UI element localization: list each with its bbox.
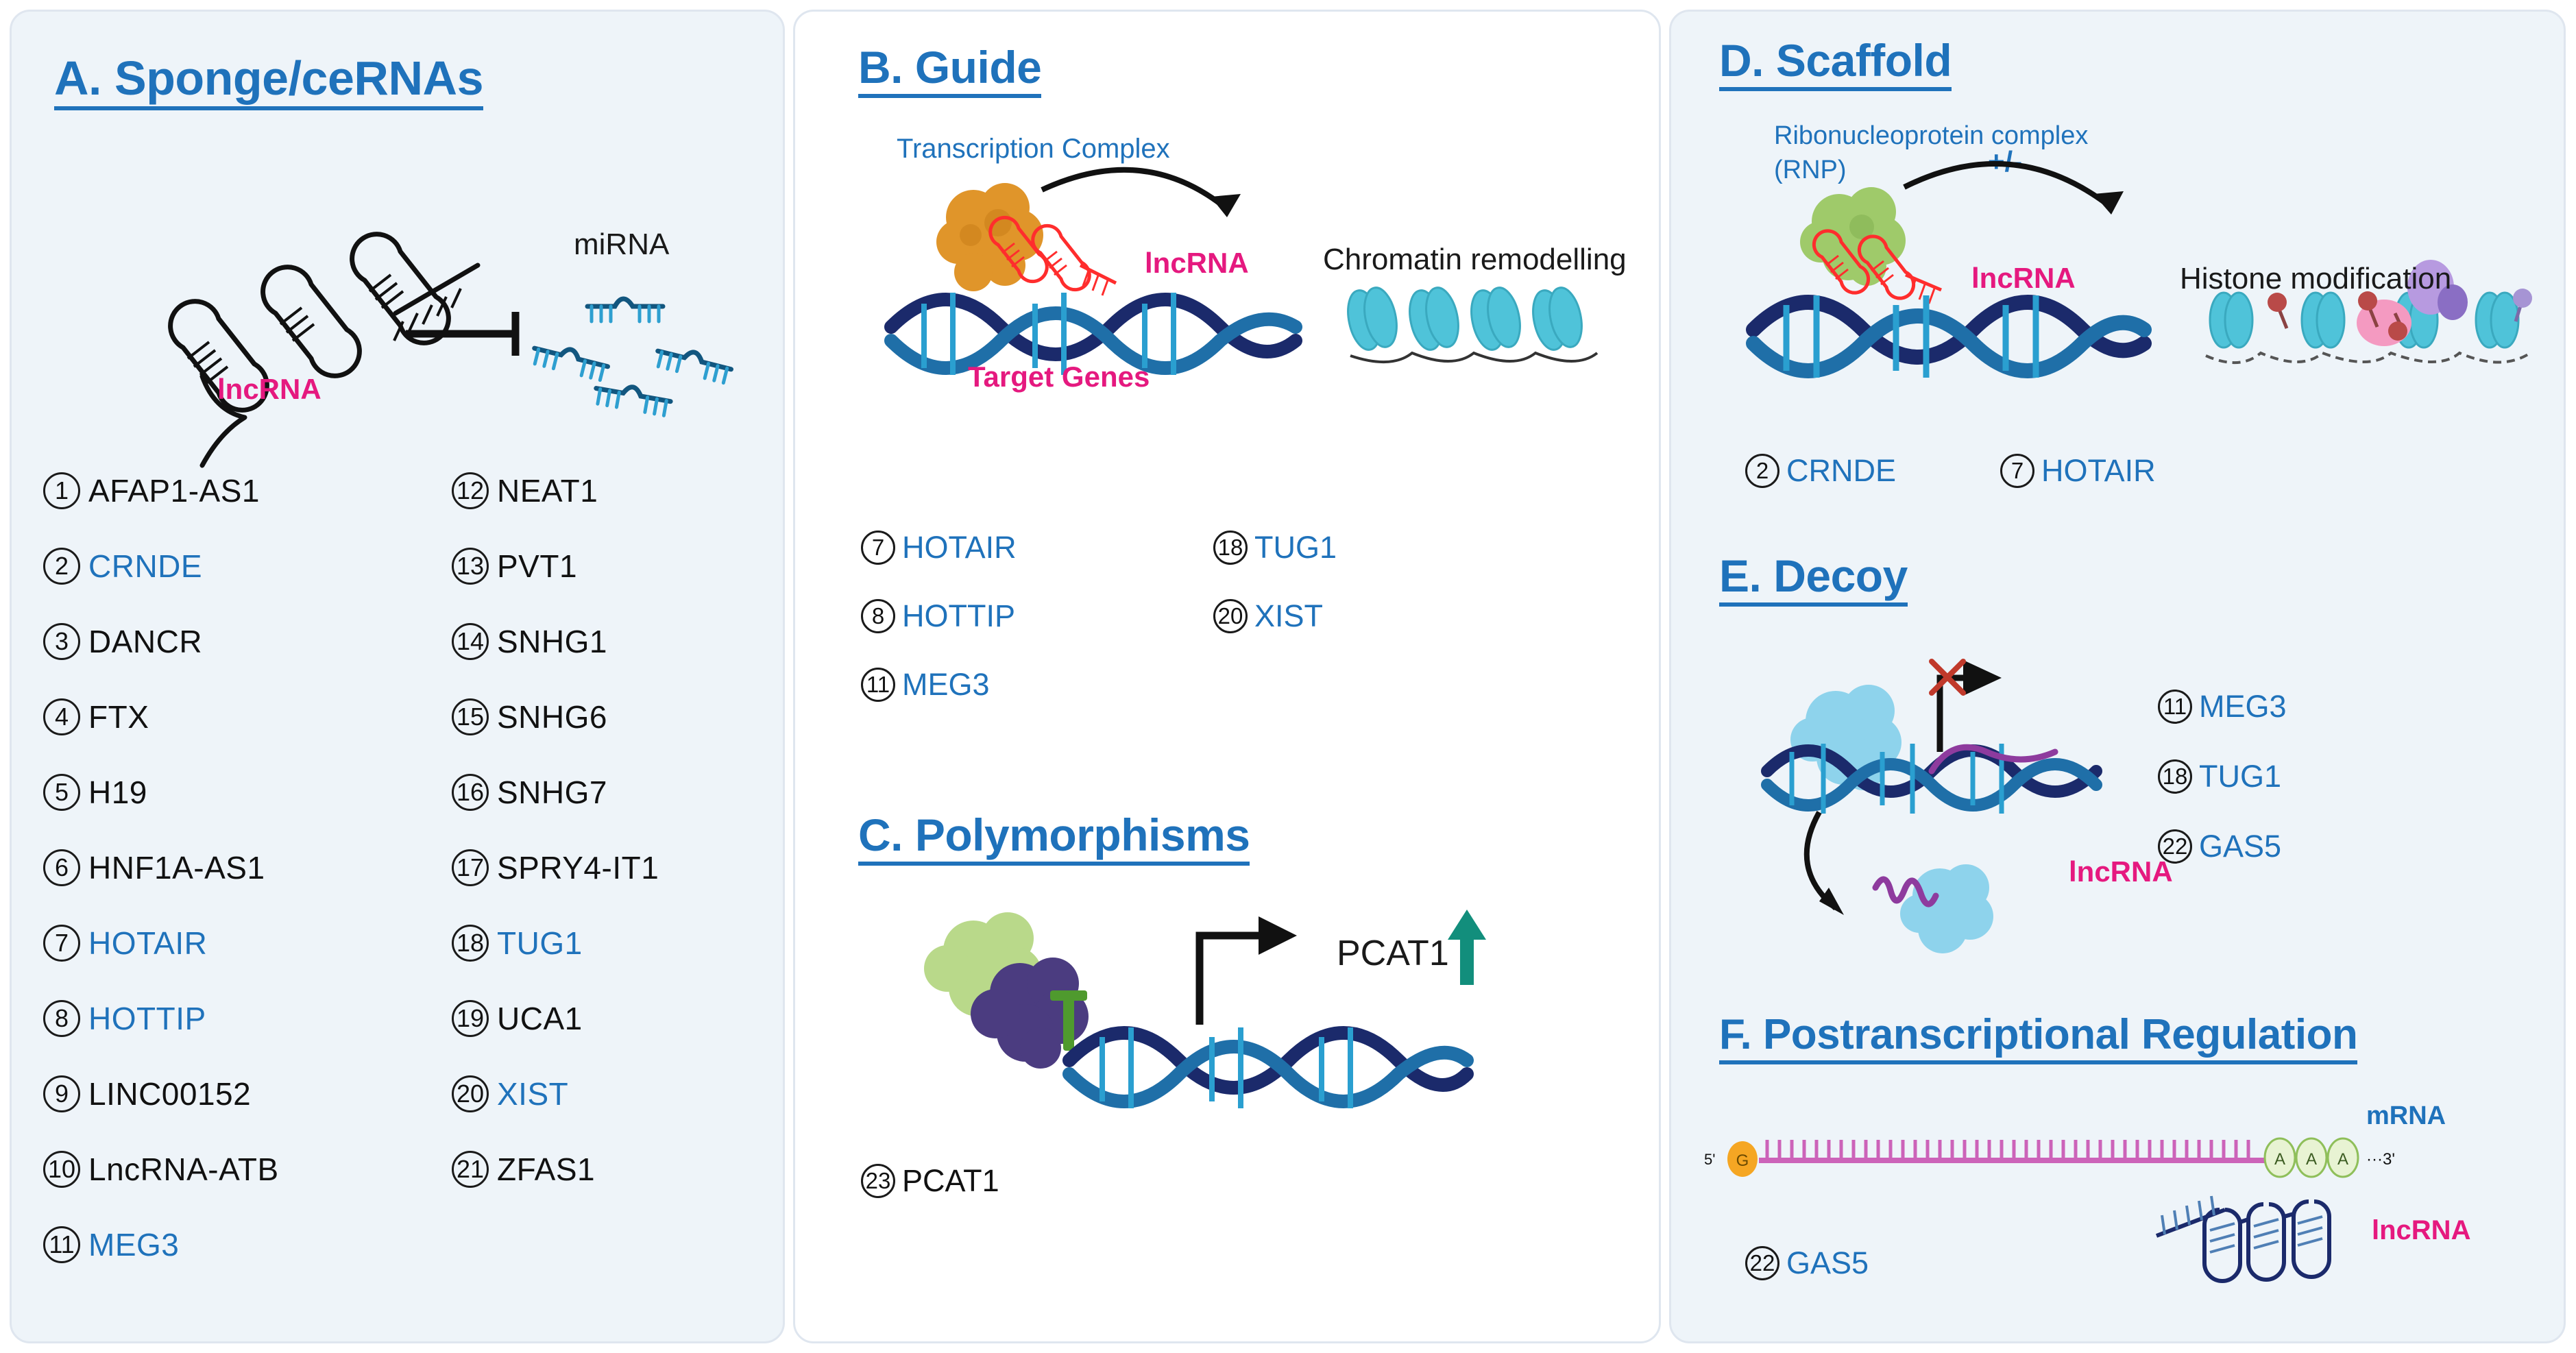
gene-name: HOTTIP [88,1000,206,1037]
gene-list-item[interactable]: 22GAS5 [2158,829,2281,864]
panel-c-title: C. Polymorphisms [858,812,1250,866]
gene-list-item[interactable]: 14SNHG1 [452,623,607,660]
gene-index-badge: 11 [43,1226,80,1263]
panel-e-title: E. Decoy [1719,553,1908,607]
gene-name: SPRY4-IT1 [497,849,659,886]
panel-f-lncrna-label: lncRNA [2372,1217,2470,1244]
panel-f-title: F. Postranscriptional Regulation [1719,1014,2357,1064]
gene-index-badge: 10 [43,1151,80,1188]
panel-a-title: A. Sponge/ceRNAs [54,54,483,110]
gene-index-badge: 18 [452,925,489,962]
target-genes-label: Target Genes [968,363,1150,391]
gene-name: ZFAS1 [497,1151,595,1188]
gene-index-badge: 5 [43,774,80,811]
gene-index-badge: 14 [452,623,489,660]
gene-name: PCAT1 [902,1163,999,1199]
gene-list-item[interactable]: 9LINC00152 [43,1075,251,1112]
gene-index-badge: 13 [452,548,489,585]
gene-index-badge: 7 [861,531,895,565]
gene-index-badge: 2 [43,548,80,585]
rnp-label-line1: Ribonucleoprotein complex [1774,123,2088,149]
svg-text:A: A [2274,1150,2285,1169]
gene-name: MEG3 [902,667,990,703]
gene-list-item[interactable]: 6HNF1A-AS1 [43,849,265,886]
gene-list-item[interactable]: 23PCAT1 [861,1163,999,1199]
gene-list-item[interactable]: 18TUG1 [1213,530,1337,565]
gene-list-item[interactable]: 12NEAT1 [452,472,598,509]
svg-text:5': 5' [1704,1151,1715,1168]
gene-list-item[interactable]: 20XIST [452,1075,568,1112]
gene-name: NEAT1 [497,472,598,509]
gene-list-item[interactable]: 11MEG3 [2158,689,2287,724]
panel-d-title: D. Scaffold [1719,38,1952,91]
gene-list-item[interactable]: 7HOTAIR [2000,453,2156,489]
gene-list-item[interactable]: 16SNHG7 [452,774,607,811]
gene-list-item[interactable]: 8HOTTIP [861,598,1015,634]
gene-name: XIST [1254,598,1323,634]
gene-index-badge: 2 [1745,454,1779,488]
gene-name: XIST [497,1075,568,1112]
gene-name: HOTAIR [2041,453,2156,489]
gene-list-item[interactable]: 1AFAP1-AS1 [43,472,260,509]
gene-index-badge: 20 [452,1075,489,1112]
gene-index-badge: 23 [861,1164,895,1198]
svg-text:A: A [2306,1150,2317,1169]
gene-name: UCA1 [497,1000,583,1037]
gene-name: TUG1 [2199,759,2281,794]
gene-list-item[interactable]: 11MEG3 [43,1226,179,1263]
gene-list-item[interactable]: 8HOTTIP [43,1000,206,1037]
gene-name: CRNDE [1786,453,1896,489]
gene-name: HNF1A-AS1 [88,849,265,886]
gene-list-item[interactable]: 2CRNDE [43,548,202,585]
gene-name: AFAP1-AS1 [88,472,260,509]
decoy-mechanism-illustration [1760,649,2185,964]
panel-d-lncrna-label: lncRNA [1971,264,2076,293]
gene-name: GAS5 [1786,1245,1869,1281]
gene-name: HOTAIR [902,530,1017,565]
gene-list-item[interactable]: 21ZFAS1 [452,1151,595,1188]
gene-index-badge: 12 [452,472,489,509]
gene-list-item[interactable]: 3DANCR [43,623,202,660]
gene-list-item[interactable]: 19UCA1 [452,1000,583,1037]
gene-index-badge: 22 [2158,829,2192,864]
gene-index-badge: 6 [43,849,80,886]
gene-list-item[interactable]: 18TUG1 [452,925,583,962]
gene-list-item[interactable]: 2CRNDE [1745,453,1896,489]
gene-list-item[interactable]: 17SPRY4-IT1 [452,849,659,886]
gene-list-item[interactable]: 7HOTAIR [43,925,207,962]
svg-text:A: A [2337,1150,2348,1169]
mrna-label: mRNA [2366,1103,2446,1129]
gene-name: SNHG6 [497,698,607,735]
gene-name: LINC00152 [88,1075,251,1112]
gene-list-item[interactable]: 4FTX [43,698,149,735]
gene-index-badge: 8 [861,599,895,633]
gene-index-badge: 16 [452,774,489,811]
gene-name: SNHG7 [497,774,607,811]
gene-name: PVT1 [497,548,577,585]
gene-name: CRNDE [88,548,202,585]
gene-index-badge: 3 [43,623,80,660]
gene-name: FTX [88,698,149,735]
gene-index-badge: 1 [43,472,80,509]
gene-list-item[interactable]: 20XIST [1213,598,1323,634]
gene-list-item[interactable]: 13PVT1 [452,548,577,585]
panel-e-lncrna-label: lncRNA [2069,857,2173,886]
gene-list-item[interactable]: 15SNHG6 [452,698,607,735]
panel-b-guide-and-c-polymorphisms: B. Guide Transcription Complex [793,10,1661,1343]
gene-name: TUG1 [497,925,583,962]
gene-list-item[interactable]: 10LncRNA-ATB [43,1151,279,1188]
panel-b-lncrna-label: lncRNA [1145,249,1249,278]
panel-a-lncrna-label: lncRNA [217,375,321,404]
panel-b-title: B. Guide [858,45,1041,98]
gene-name: GAS5 [2199,829,2281,864]
mirna-cluster-illustration [539,286,786,416]
inhibition-arrow-icon [402,306,533,361]
gene-index-badge: 18 [2158,759,2192,794]
histone-modification-label: Histone modification [2180,264,2451,294]
gene-index-badge: 19 [452,1000,489,1037]
gene-name: HOTTIP [902,598,1015,634]
gene-index-badge: 8 [43,1000,80,1037]
gene-name: MEG3 [2199,689,2287,724]
gene-index-badge: 7 [2000,454,2034,488]
gene-list-item[interactable]: 18TUG1 [2158,759,2281,794]
gene-list-item[interactable]: 11MEG3 [861,667,990,703]
transcription-complex-label: Transcription Complex [897,135,1170,162]
gene-index-badge: 9 [43,1075,80,1112]
gene-list-item[interactable]: 22GAS5 [1745,1245,1869,1281]
gene-name: H19 [88,774,147,811]
pcat1-gene-label: PCAT1 [1337,936,1449,971]
gene-list-item[interactable]: 5H19 [43,774,147,811]
gene-name: DANCR [88,623,202,660]
gene-name: MEG3 [88,1226,179,1263]
gene-name: TUG1 [1254,530,1337,565]
gene-index-badge: 17 [452,849,489,886]
svg-text:···3': ···3' [2366,1150,2395,1169]
chromatin-remodelling-label: Chromatin remodelling [1323,245,1627,275]
gene-index-badge: 11 [2158,690,2192,724]
gene-name: LncRNA-ATB [88,1151,279,1188]
gene-index-badge: 4 [43,698,80,735]
gene-index-badge: 22 [1745,1246,1779,1280]
gene-index-badge: 11 [861,668,895,702]
gene-index-badge: 15 [452,698,489,735]
gene-name: SNHG1 [497,623,607,660]
panel-d-scaffold-decoy-postranscriptional: D. Scaffold Ribonucleoprotein complex (R… [1669,10,2566,1343]
gene-index-badge: 20 [1213,599,1248,633]
svg-text:G: G [1736,1151,1749,1170]
gene-index-badge: 18 [1213,531,1248,565]
panel-a-mirna-label: miRNA [574,230,669,260]
gene-name: HOTAIR [88,925,207,962]
panel-a-sponge-cernas: A. Sponge/ceRNAs [10,10,785,1343]
mrna-lncrna-illustration: 5' G [1704,1133,2444,1339]
gene-index-badge: 21 [452,1151,489,1188]
gene-index-badge: 7 [43,925,80,962]
gene-list-item[interactable]: 7HOTAIR [861,530,1017,565]
